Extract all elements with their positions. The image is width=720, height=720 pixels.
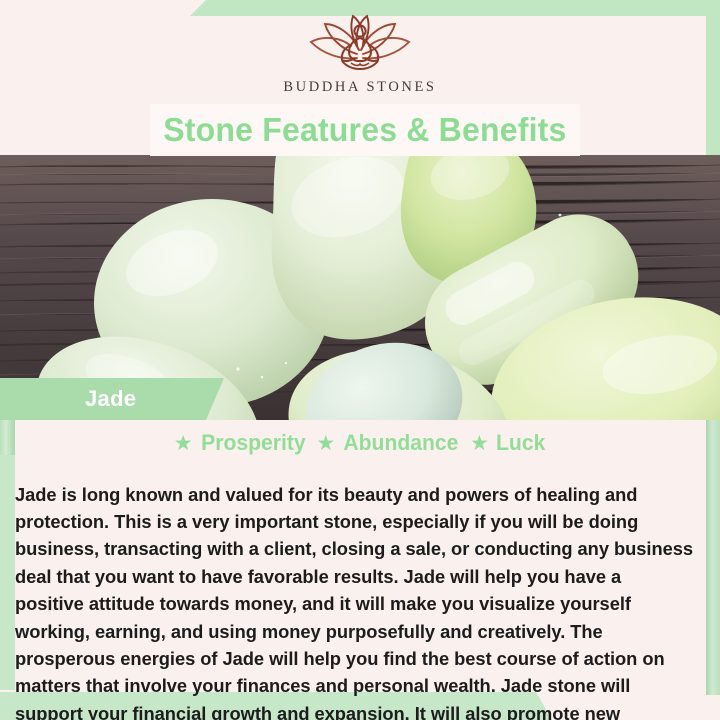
keyword-row: ★ Prosperity ★ Abundance ★ Luck — [0, 430, 720, 456]
keyword-luck: ★ Luck — [470, 430, 546, 456]
stone-benefits-poster: BUDDHA STONES Stone Features & Benefits — [0, 0, 720, 720]
star-icon: ★ — [470, 433, 489, 454]
stone-description: Jade is long known and valued for its be… — [15, 481, 695, 720]
keyword-label: Luck — [496, 430, 545, 456]
lotus-meditation-icon — [301, 14, 419, 76]
brand-logo: BUDDHA STONES — [0, 14, 720, 110]
keyword-label: Prosperity — [201, 430, 305, 456]
stone-name-label: Jade — [85, 386, 136, 412]
stone-name-banner: Jade — [0, 378, 240, 420]
left-green-band-solid — [0, 455, 15, 690]
keyword-prosperity: ★ Prosperity — [174, 430, 308, 456]
keyword-abundance: ★ Abundance — [316, 430, 461, 456]
star-icon: ★ — [174, 433, 193, 454]
page-title: Stone Features & Benefits — [150, 104, 580, 156]
star-icon: ★ — [316, 433, 335, 454]
brand-wordmark: BUDDHA STONES — [283, 79, 436, 96]
keyword-label: Abundance — [344, 430, 459, 456]
page-title-text: Stone Features & Benefits — [163, 111, 566, 149]
